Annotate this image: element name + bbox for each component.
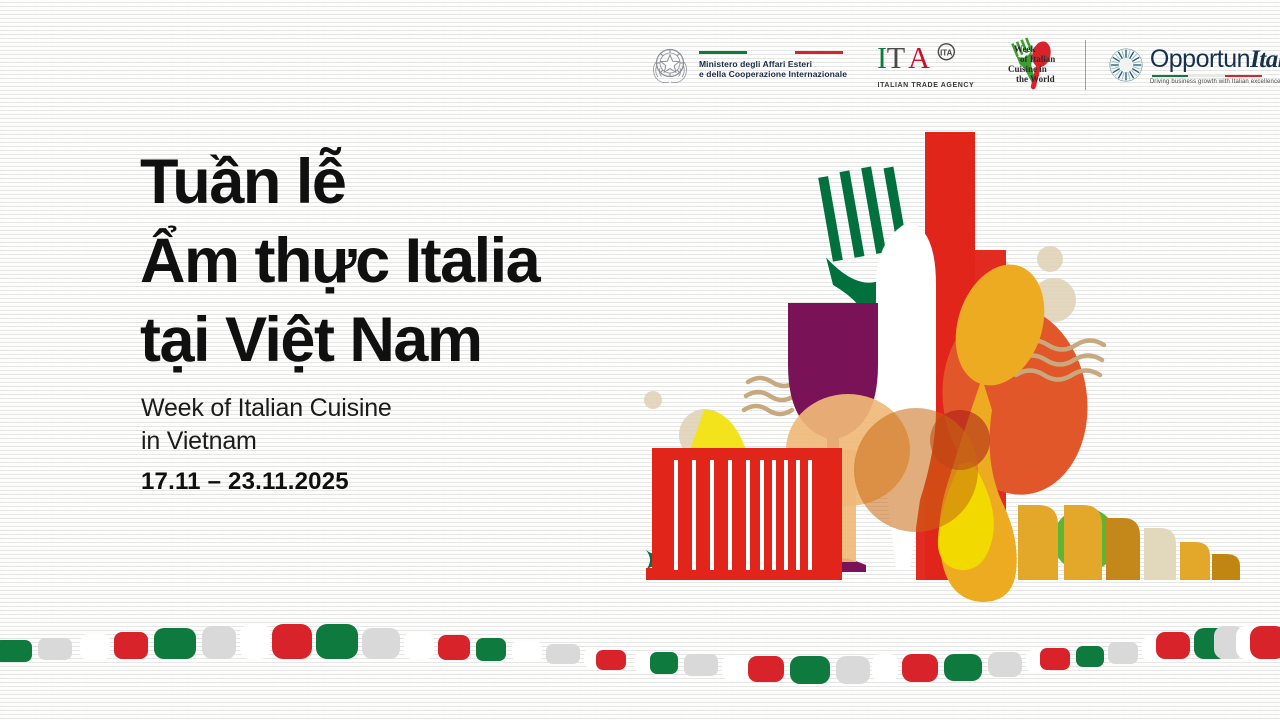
svg-text:A: A bbox=[908, 42, 930, 74]
ministry-text-block: Ministero degli Affari Esteri e della Co… bbox=[699, 51, 847, 80]
italian-flag-wave-ribbon bbox=[0, 610, 1280, 720]
event-dates: 17.11 – 23.11.2025 bbox=[141, 468, 349, 496]
ministry-line-2: e della Cooperazione Internazionale bbox=[699, 69, 847, 80]
opportunitaly-wordmark: OpportunItaly bbox=[1150, 46, 1280, 73]
poster-canvas: Ministero degli Affari Esteri e della Co… bbox=[0, 0, 1280, 720]
page-subtitle: Week of Italian Cuisine in Vietnam bbox=[141, 392, 392, 458]
headline-line-3: tại Việt Nam bbox=[140, 301, 539, 380]
logo-opportunitaly: OpportunItaly Driving business growth wi… bbox=[1108, 46, 1280, 85]
svg-text:ITA: ITA bbox=[940, 48, 953, 57]
opportunitaly-text-block: OpportunItaly Driving business growth wi… bbox=[1150, 46, 1280, 85]
logo-bar: Ministero degli Affari Esteri e della Co… bbox=[650, 38, 1280, 92]
svg-text:I: I bbox=[877, 42, 887, 74]
week-line-2: of Italian bbox=[1020, 54, 1055, 64]
italian-flag-bars-icon bbox=[699, 51, 847, 54]
pasta-waves-left bbox=[744, 378, 796, 414]
opportunitaly-sunburst-icon bbox=[1108, 47, 1144, 83]
emblem-of-italy-icon bbox=[650, 43, 690, 87]
logo-divider bbox=[1085, 40, 1086, 90]
opportunitaly-word-1: Opportun bbox=[1150, 45, 1250, 73]
subtitle-line-2: in Vietnam bbox=[141, 425, 392, 458]
ita-subtitle: ITALIAN TRADE AGENCY bbox=[877, 82, 975, 89]
logo-week-of-italian-cuisine: Week of Italian Cuisine in the World bbox=[1001, 36, 1061, 95]
subtitle-line-1: Week of Italian Cuisine bbox=[141, 392, 392, 425]
opportunitaly-word-2: Italy bbox=[1250, 46, 1280, 73]
headline-line-1: Tuần lễ bbox=[140, 143, 539, 222]
fork-spoon-cuisine-icon: Week of Italian Cuisine in the World bbox=[1001, 36, 1061, 90]
red-pasta-box bbox=[646, 448, 842, 580]
bread-slices bbox=[1018, 505, 1240, 580]
logo-italian-trade-agency: I T A ITA ITALIAN TRADE AGENCY bbox=[877, 42, 975, 89]
illustration-italian-food-collage bbox=[620, 110, 1240, 630]
page-title: Tuần lễ Ẩm thực Italia tại Việt Nam bbox=[140, 143, 539, 380]
headline-line-2: Ẩm thực Italia bbox=[140, 222, 539, 301]
opportunitaly-flag-rule bbox=[1152, 75, 1262, 77]
week-line-4: the World bbox=[1016, 74, 1055, 84]
ribbon-tiles bbox=[0, 624, 1280, 684]
logo-ministero-affari-esteri: Ministero degli Affari Esteri e della Co… bbox=[650, 43, 847, 87]
week-line-1: Week bbox=[1014, 44, 1036, 54]
ministry-line-1: Ministero degli Affari Esteri bbox=[699, 59, 847, 70]
svg-text:T: T bbox=[887, 42, 905, 74]
opportunitaly-tagline: Driving business growth with Italian exc… bbox=[1150, 79, 1280, 85]
week-line-3: Cuisine in bbox=[1008, 64, 1047, 74]
ita-wordmark-icon: I T A ITA bbox=[877, 42, 975, 74]
